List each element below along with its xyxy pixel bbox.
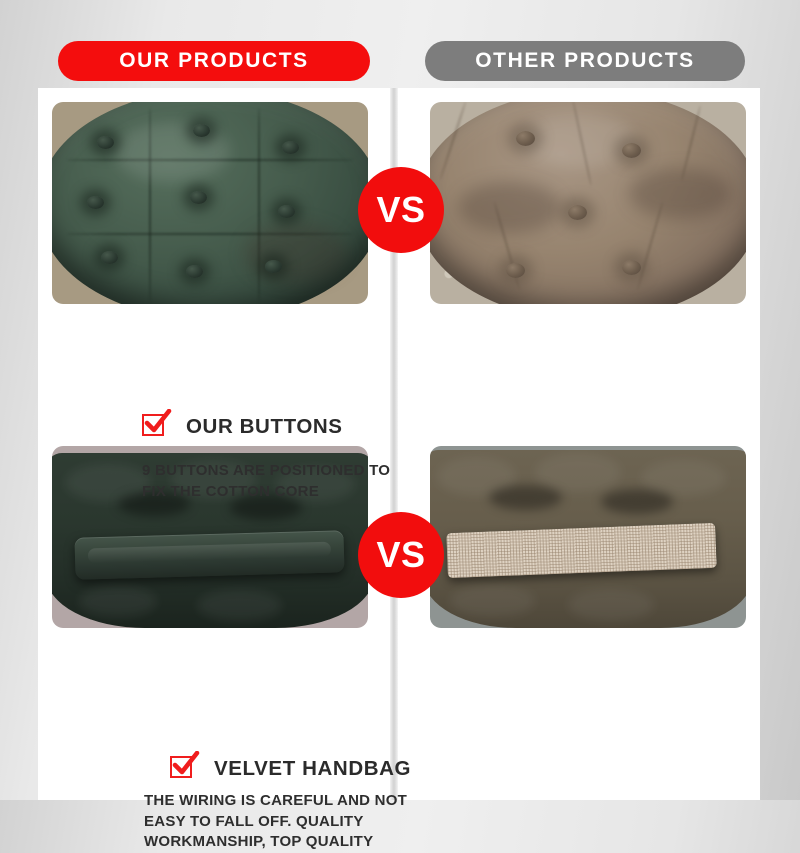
woven-handle-strap xyxy=(446,523,717,578)
velvet-handbag-description: THE WIRING IS CAREFUL AND NOT EASY TO FA… xyxy=(144,791,416,853)
our-buttons-heading-row: OUR BUTTONS xyxy=(142,411,412,439)
velvet-handbag-title: VELVET HANDBAG xyxy=(214,753,411,781)
our-buttons-description: 9 BUTTONS ARE POSITIONED TO FIX THE COTT… xyxy=(142,461,412,502)
check-icon xyxy=(142,411,172,439)
vs-badge-bottom: VS xyxy=(358,512,444,598)
check-icon xyxy=(170,753,200,781)
photo-woven-handbag xyxy=(430,446,746,628)
photo-other-buttons xyxy=(430,102,746,304)
vs-label: VS xyxy=(376,537,425,573)
vs-badge-top: VS xyxy=(358,167,444,253)
velvet-handbag-heading-row: VELVET HANDBAG xyxy=(170,753,416,781)
our-products-label: OUR PRODUCTS xyxy=(119,49,309,73)
velvet-handbag-text-block: VELVET HANDBAG THE WIRING IS CAREFUL AND… xyxy=(166,753,416,853)
taupe-cushion xyxy=(430,102,746,304)
other-products-badge: OTHER PRODUCTS xyxy=(425,41,745,81)
photo-our-buttons xyxy=(52,102,368,304)
our-buttons-text-block: OUR BUTTONS 9 BUTTONS ARE POSITIONED TO … xyxy=(142,411,412,502)
comparison-infographic: OUR PRODUCTS OTHER PRODUCTS xyxy=(0,0,800,800)
green-cushion xyxy=(52,102,368,304)
olive-bag xyxy=(430,450,746,628)
our-buttons-title: OUR BUTTONS xyxy=(186,411,343,439)
other-products-column: OTHER BUTTONS 5 BUTTONS FOR POSITIONING,… xyxy=(398,88,750,800)
our-products-column: OUR BUTTONS 9 BUTTONS ARE POSITIONED TO … xyxy=(38,88,390,800)
our-products-badge: OUR PRODUCTS xyxy=(58,41,370,81)
vs-label: VS xyxy=(376,192,425,228)
other-products-label: OTHER PRODUCTS xyxy=(475,49,695,73)
velvet-handle-strap xyxy=(75,530,346,579)
